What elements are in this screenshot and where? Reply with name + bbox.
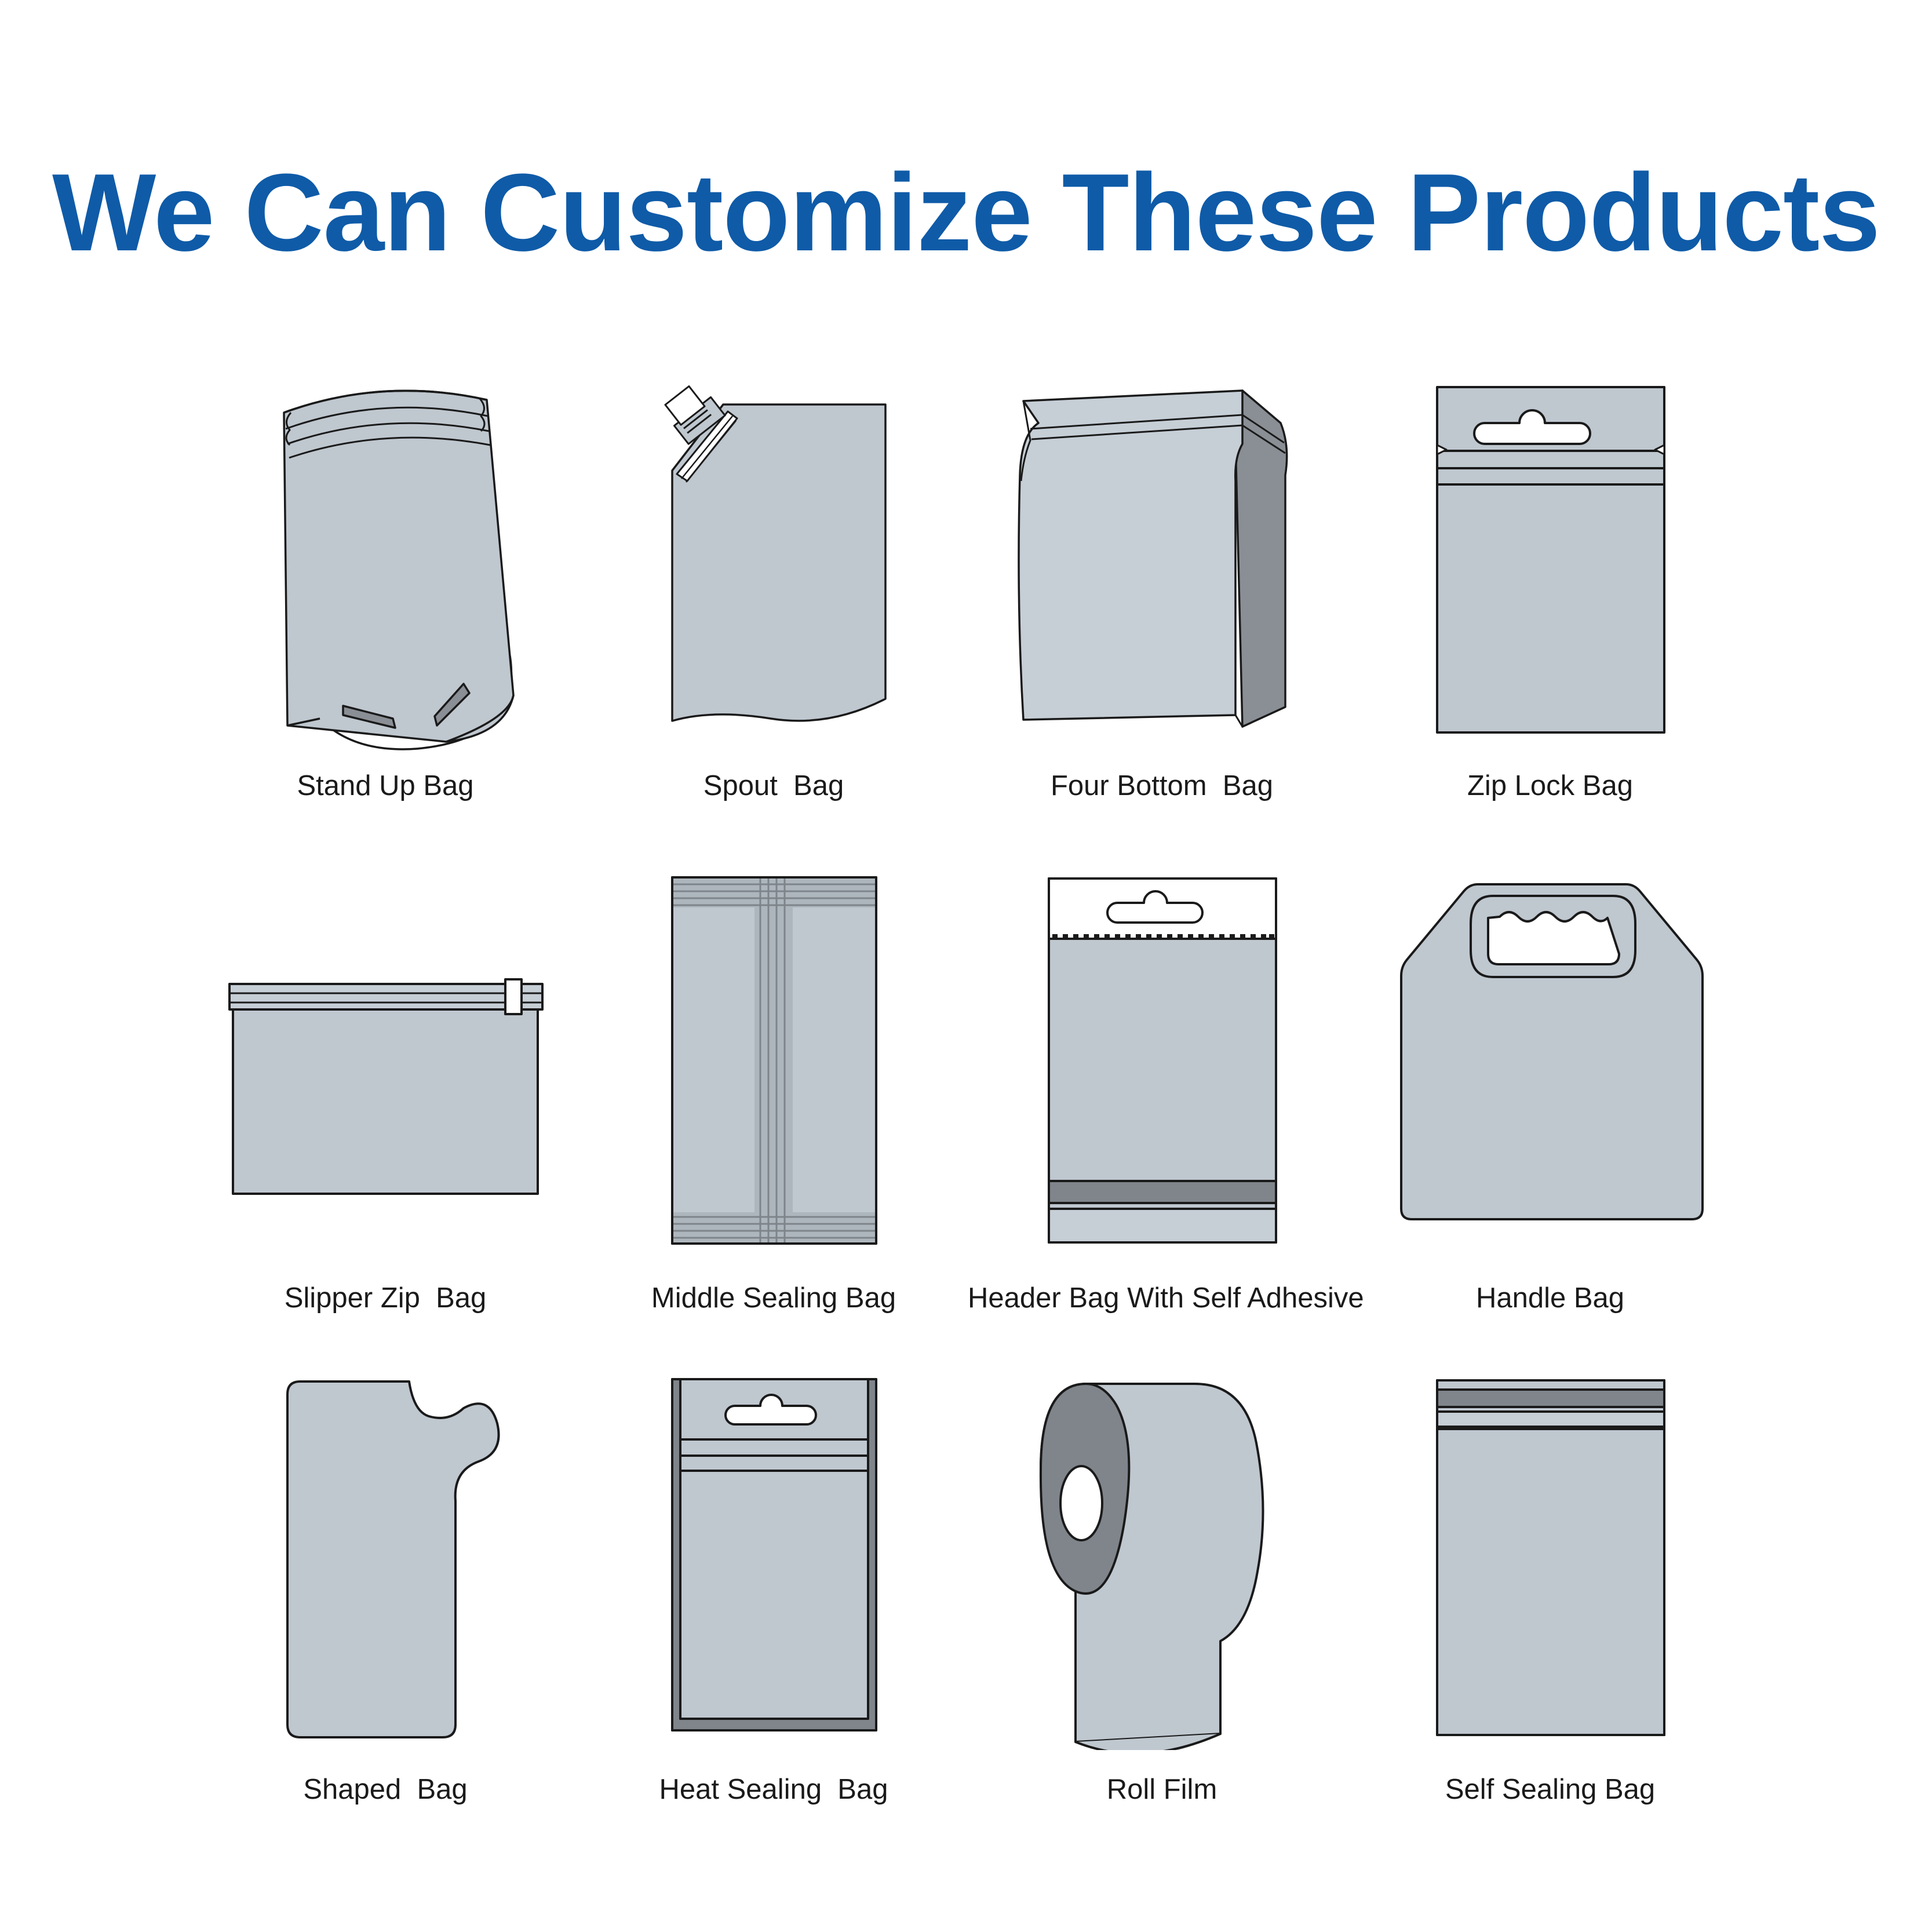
product-showcase-page: We Can Customize These Products [0, 0, 1932, 1932]
product-grid: Stand Up Bag [191, 371, 1744, 1866]
product-card-spout-bag[interactable]: Spout Bag [579, 371, 968, 869]
stand-up-bag-icon [191, 371, 579, 753]
product-card-four-bottom-bag[interactable]: Four Bottom Bag [968, 371, 1356, 869]
roll-film-icon [968, 1368, 1356, 1750]
product-card-shaped-bag[interactable]: Shaped Bag [191, 1368, 579, 1866]
four-bottom-bag-icon [968, 371, 1356, 753]
page-title: We Can Customize These Products [0, 155, 1932, 271]
product-label: Self Sealing Bag [1356, 1773, 1744, 1806]
self-sealing-bag-icon [1356, 1368, 1744, 1750]
shaped-bag-icon [191, 1368, 579, 1750]
product-label: Middle Sealing Bag [579, 1282, 968, 1314]
product-label: Stand Up Bag [191, 770, 579, 802]
product-label: Zip Lock Bag [1356, 770, 1744, 802]
product-label: Four Bottom Bag [968, 770, 1356, 802]
product-label: Header Bag With Self Adhesive [968, 1282, 1356, 1314]
middle-sealing-bag-icon [579, 869, 968, 1252]
product-card-self-sealing-bag[interactable]: Self Sealing Bag [1356, 1368, 1744, 1866]
product-card-roll-film[interactable]: Roll Film [968, 1368, 1356, 1866]
product-label: Roll Film [968, 1773, 1356, 1806]
heat-sealing-bag-icon [579, 1368, 968, 1750]
product-label: Handle Bag [1356, 1282, 1744, 1314]
product-card-header-bag[interactable]: Header Bag With Self Adhesive [968, 869, 1356, 1368]
spout-bag-icon [579, 371, 968, 753]
product-label: Slipper Zip Bag [191, 1282, 579, 1314]
handle-bag-icon [1356, 869, 1744, 1252]
product-label: Heat Sealing Bag [579, 1773, 968, 1806]
product-label: Spout Bag [579, 770, 968, 802]
product-card-handle-bag[interactable]: Handle Bag [1356, 869, 1744, 1368]
zip-lock-bag-icon [1356, 371, 1744, 753]
slipper-zip-bag-icon [191, 869, 579, 1252]
product-card-zip-lock-bag[interactable]: Zip Lock Bag [1356, 371, 1744, 869]
product-card-middle-sealing-bag[interactable]: Middle Sealing Bag [579, 869, 968, 1368]
product-card-stand-up-bag[interactable]: Stand Up Bag [191, 371, 579, 869]
product-card-slipper-zip-bag[interactable]: Slipper Zip Bag [191, 869, 579, 1368]
header-bag-icon [968, 869, 1356, 1252]
product-card-heat-sealing-bag[interactable]: Heat Sealing Bag [579, 1368, 968, 1866]
product-label: Shaped Bag [191, 1773, 579, 1806]
